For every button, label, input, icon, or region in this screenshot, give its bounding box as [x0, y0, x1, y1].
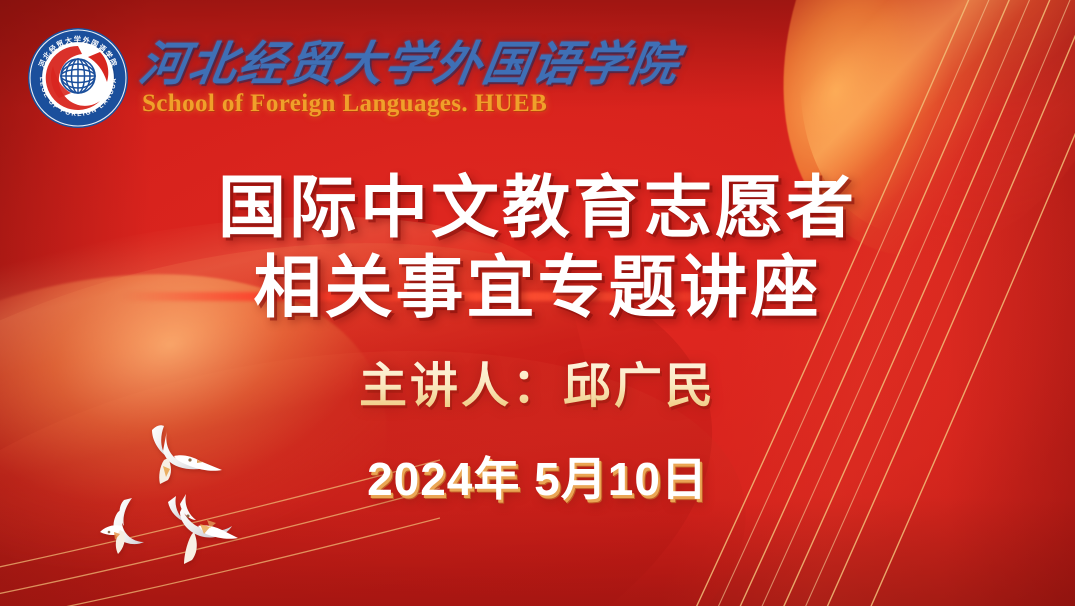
dove-upper-icon	[134, 420, 228, 494]
school-wordmarks: 河北经贸大学外国语学院 School of Foreign Languages.…	[140, 43, 679, 117]
school-name-chinese: 河北经贸大学外国语学院	[136, 43, 682, 88]
school-emblem-icon: COLLEGE OF FOREIGN LANGUAGES 河北经贸大学外国语学院	[26, 26, 130, 130]
school-brand-lockup: COLLEGE OF FOREIGN LANGUAGES 河北经贸大学外国语学院…	[26, 26, 679, 130]
dove-lower-left-icon	[92, 496, 158, 558]
speaker-line: 主讲人：邱广民	[0, 346, 1075, 416]
title-line-1: 国际中文教育志愿者	[0, 168, 1075, 248]
title-line-2: 相关事宜专题讲座	[0, 248, 1075, 328]
dove-lower-right-icon	[160, 490, 244, 570]
school-name-english: School of Foreign Languages. HUEB	[142, 90, 679, 118]
slide-title: 国际中文教育志愿者 相关事宜专题讲座	[0, 168, 1075, 328]
presentation-slide: COLLEGE OF FOREIGN LANGUAGES 河北经贸大学外国语学院…	[0, 0, 1075, 606]
